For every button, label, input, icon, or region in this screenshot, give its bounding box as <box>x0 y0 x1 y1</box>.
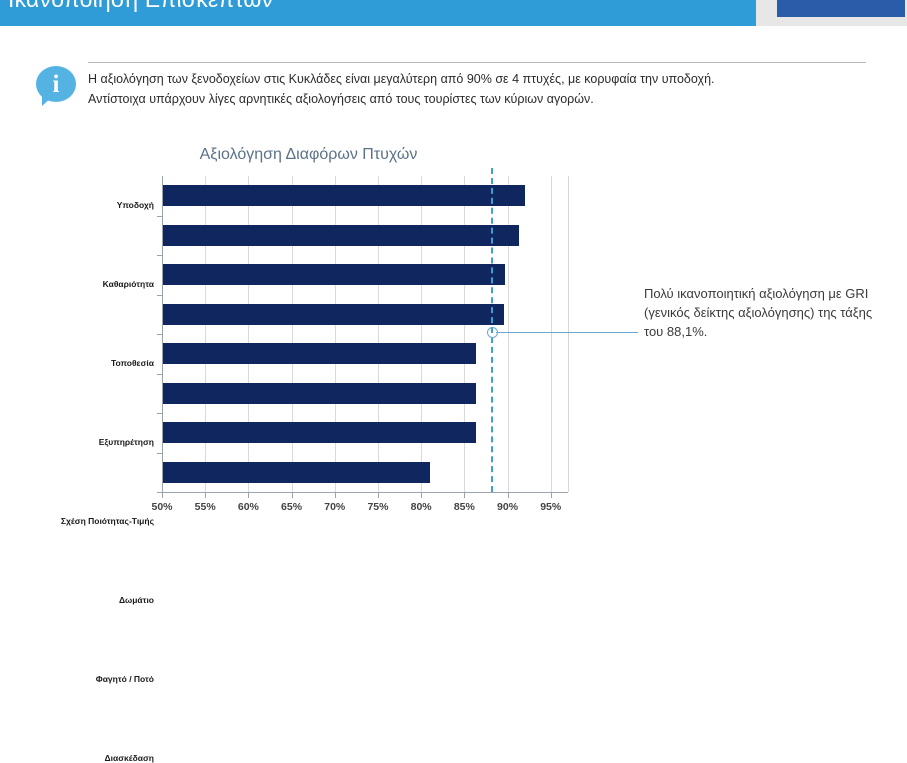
x-tick-mark <box>162 493 163 498</box>
y-tick-mark <box>157 295 162 296</box>
bar: Εξυπηρέτηση <box>163 304 504 325</box>
page-title: Ικανοποίηση Επισκεπτών <box>8 0 273 13</box>
y-tick-mark <box>157 334 162 335</box>
category-label: Φαγητό / Ποτό <box>96 674 154 684</box>
bar: Δωμάτιο <box>163 383 476 404</box>
gridline <box>378 176 379 492</box>
info-bubble-icon: i <box>36 66 76 106</box>
info-text-line-2: Αντίστοιχα υπάρχουν λίγες αρνητικές αξιο… <box>88 92 594 106</box>
gridline <box>464 176 465 492</box>
category-label: Υποδοχή <box>117 200 154 210</box>
x-tick-label: 50% <box>151 501 172 513</box>
x-tick-label: 70% <box>324 501 345 513</box>
x-tick-mark <box>248 493 249 498</box>
gridline <box>292 176 293 492</box>
x-tick-mark <box>335 493 336 498</box>
x-tick-label: 65% <box>281 501 302 513</box>
info-divider <box>88 62 866 63</box>
x-tick-label: 95% <box>540 501 561 513</box>
plot-right-border <box>568 176 569 492</box>
annotation-connector-line <box>496 332 638 333</box>
bar: Διασκέδαση <box>163 462 430 483</box>
y-axis-line <box>162 176 163 493</box>
x-tick-mark <box>551 493 552 498</box>
category-label: Καθαριότητα <box>103 279 154 289</box>
plot-area: ΥποδοχήΚαθαριότηταΤοποθεσίαΕξυπηρέτησηΣχ… <box>162 176 568 492</box>
y-tick-mark <box>157 374 162 375</box>
x-tick-label: 60% <box>238 501 259 513</box>
bar-chart: Αξιολόγηση Διαφόρων Πτυχών ΥποδοχήΚαθαρι… <box>36 146 581 526</box>
category-label: Τοποθεσία <box>111 358 154 368</box>
x-tick-label: 85% <box>454 501 475 513</box>
info-callout: i Η αξιολόγηση των ξενοδοχείων στις Κυκλ… <box>36 62 866 114</box>
gridline <box>335 176 336 492</box>
gridline <box>205 176 206 492</box>
x-tick-mark <box>464 493 465 498</box>
x-tick-label: 55% <box>195 501 216 513</box>
header-divider <box>0 26 907 29</box>
bar: Τοποθεσία <box>163 264 505 285</box>
category-label: Δωμάτιο <box>119 595 154 605</box>
gridline <box>248 176 249 492</box>
chart-title: Αξιολόγηση Διαφόρων Πτυχών <box>36 146 581 164</box>
info-letter: i <box>36 67 76 103</box>
y-tick-mark <box>157 453 162 454</box>
category-label: Σχέση Ποιότητας-Τιμής <box>61 516 154 526</box>
y-tick-mark <box>157 413 162 414</box>
header-blue-band: Ικανοποίηση Επισκεπτών <box>0 0 756 26</box>
y-tick-mark <box>157 255 162 256</box>
x-tick-label: 80% <box>411 501 432 513</box>
x-tick-mark <box>378 493 379 498</box>
x-tick-label: 90% <box>497 501 518 513</box>
annotation-connector-marker <box>487 327 498 338</box>
category-label: Διασκέδαση <box>105 753 154 763</box>
bar: Υποδοχή <box>163 185 525 206</box>
header-accent-block <box>777 0 905 17</box>
x-tick-mark <box>292 493 293 498</box>
info-text-line-1: Η αξιολόγηση των ξενοδοχείων στις Κυκλάδ… <box>88 72 715 86</box>
gridline <box>508 176 509 492</box>
x-tick-mark <box>421 493 422 498</box>
bar: Καθαριότητα <box>163 225 519 246</box>
x-tick-mark <box>205 493 206 498</box>
gridline <box>551 176 552 492</box>
bar: Σχέση Ποιότητας-Τιμής <box>163 343 476 364</box>
bar: Φαγητό / Ποτό <box>163 422 476 443</box>
annotation-text: Πολύ ικανοποιητική αξιολόγηση με GRI (γε… <box>644 284 884 341</box>
category-label: Εξυπηρέτηση <box>99 437 154 447</box>
x-tick-mark <box>508 493 509 498</box>
y-tick-mark <box>157 216 162 217</box>
gridline <box>421 176 422 492</box>
x-tick-label: 75% <box>367 501 388 513</box>
